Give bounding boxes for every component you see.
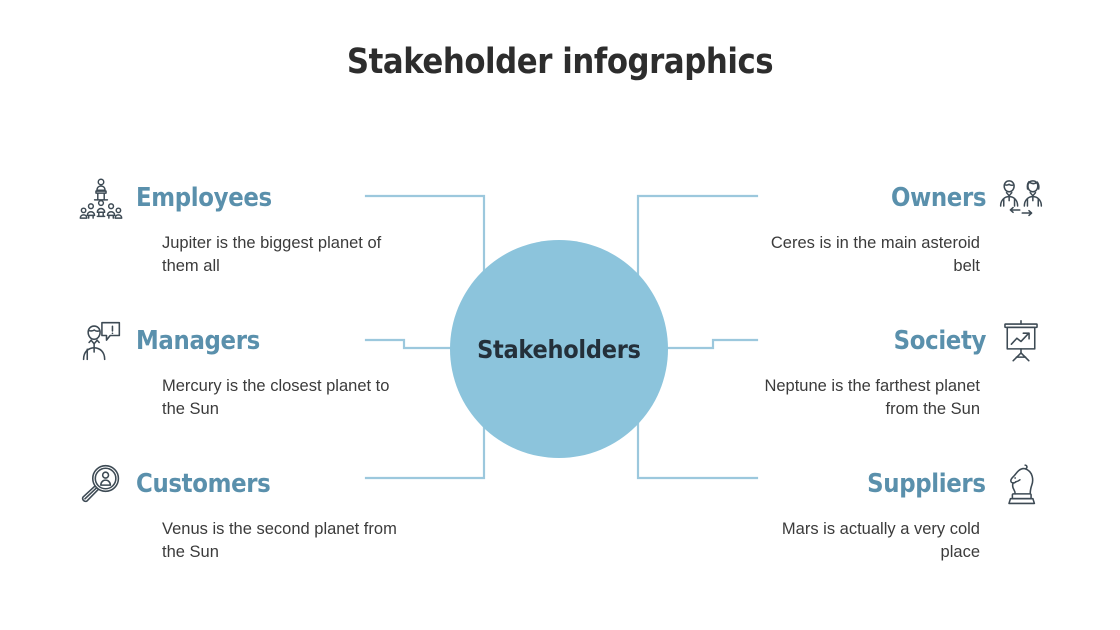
connector-middle-right (662, 340, 757, 348)
item-title: Owners (891, 183, 986, 213)
person-speech-bubble-alert-icon (78, 318, 124, 364)
item-header: Suppliers (744, 458, 1044, 510)
item-header: Society (744, 315, 1044, 367)
connector-middle-left (366, 340, 456, 348)
center-circle: Stakeholders (450, 240, 668, 458)
item-description: Neptune is the farthest planet from the … (744, 375, 980, 422)
item-header: Managers (78, 315, 378, 367)
item-title: Managers (136, 326, 260, 356)
item-description: Mars is actually a very cold place (744, 518, 980, 565)
infographic-slide: Stakeholder infographics Stakeholders (0, 0, 1120, 630)
item-description: Venus is the second planet from the Sun (162, 518, 398, 565)
item-description: Mercury is the closest planet to the Sun (162, 375, 398, 422)
stakeholder-item-suppliers[interactable]: Suppliers Mars is actually a very cold p… (744, 458, 1044, 565)
item-title: Society (893, 326, 986, 356)
flipchart-growth-chart-icon (998, 318, 1044, 364)
page-title: Stakeholder infographics (67, 42, 1053, 82)
connector-bottom-right (638, 412, 757, 478)
stakeholder-item-owners[interactable]: Owners (744, 172, 1044, 279)
stakeholder-item-employees[interactable]: Employees Jupiter is the biggest planet … (78, 172, 378, 279)
item-description: Jupiter is the biggest planet of them al… (162, 232, 398, 279)
stakeholder-item-customers[interactable]: Customers Venus is the second planet fro… (78, 458, 378, 565)
center-label: Stakeholders (477, 335, 641, 364)
item-header: Customers (78, 458, 378, 510)
item-header: Employees (78, 172, 378, 224)
stakeholder-item-managers[interactable]: Managers Mercury is the closest planet t… (78, 315, 378, 422)
stakeholder-item-society[interactable]: Society Neptune is the farthest planet f… (744, 315, 1044, 422)
audience-podium-icon (78, 175, 124, 221)
magnifier-person-icon (78, 461, 124, 507)
item-title: Customers (136, 469, 270, 499)
item-description: Ceres is in the main asteroid belt (744, 232, 980, 279)
item-header: Owners (744, 172, 1044, 224)
chess-knight-icon (998, 461, 1044, 507)
connector-bottom-left (366, 412, 484, 478)
item-title: Suppliers (868, 469, 986, 499)
two-people-exchange-icon (998, 175, 1044, 221)
connector-top-right (638, 196, 757, 286)
item-title: Employees (136, 183, 272, 213)
